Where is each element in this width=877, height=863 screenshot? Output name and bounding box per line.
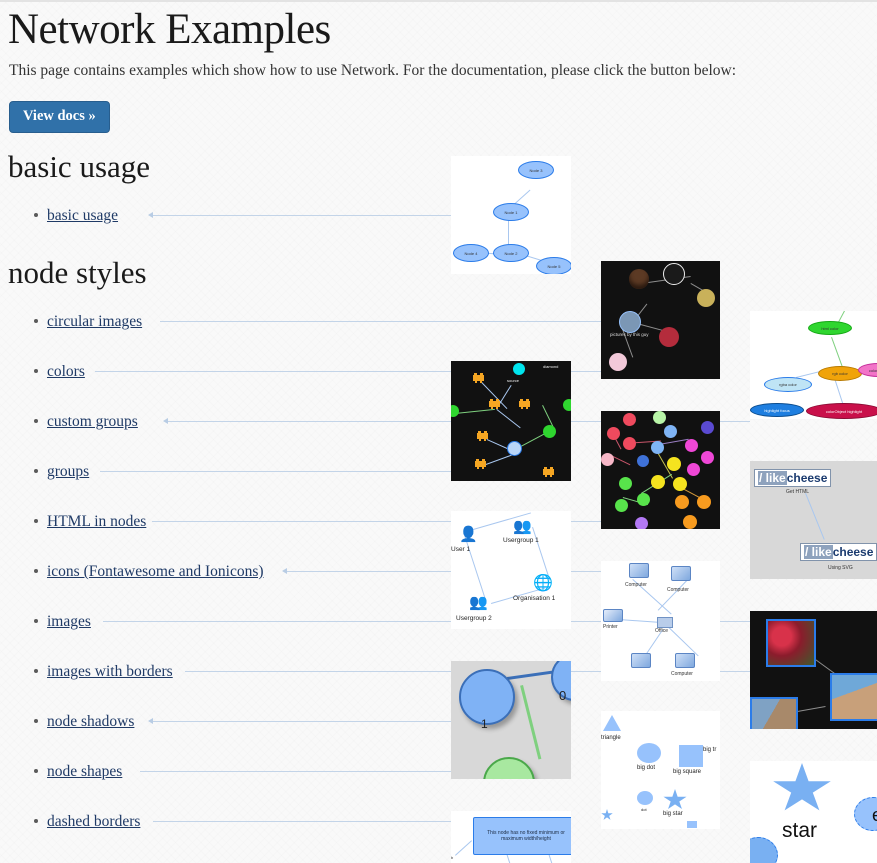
- connector-line: [153, 721, 451, 722]
- section-heading-basic-usage: basic usage: [8, 149, 150, 185]
- bullet-icon: [34, 319, 38, 323]
- node-label: big square: [673, 769, 701, 775]
- alien-icon: [477, 431, 488, 441]
- link-images[interactable]: images: [47, 613, 91, 630]
- star-shape: [601, 809, 613, 821]
- graph-node: Node 2: [493, 244, 529, 262]
- link-images-with-borders[interactable]: images with borders: [47, 663, 173, 680]
- list-item-custom-groups[interactable]: custom groups: [34, 412, 138, 432]
- thumbnail-images-with-borders[interactable]: [750, 611, 877, 729]
- graph-edge: [666, 625, 698, 656]
- graph-node: [687, 463, 700, 476]
- thumbnail-circular-images[interactable]: pictures by this guy: [601, 261, 720, 379]
- thumbnail-node-shadows[interactable]: 1 0: [451, 661, 571, 779]
- bullet-icon: [34, 619, 38, 623]
- graph-node: [675, 495, 689, 509]
- graph-node: colorObject highlight: [806, 403, 877, 419]
- thumbnail-custom-groups[interactable]: html color rgb color colorObject rgba co…: [750, 311, 877, 419]
- triangle-shape: [603, 715, 621, 731]
- list-item-basic-usage[interactable]: basic usage: [34, 206, 118, 226]
- graph-node: [651, 441, 664, 454]
- photo-node: [830, 673, 877, 721]
- image-node: [697, 289, 715, 307]
- graph-node: rgb color: [818, 366, 862, 381]
- image-node: [629, 269, 649, 289]
- bullet-icon: [34, 419, 38, 423]
- page-title: Network Examples: [8, 4, 331, 56]
- graph-edge: [658, 578, 689, 610]
- section-heading-node-styles: node styles: [8, 255, 147, 291]
- graph-node: [651, 475, 665, 489]
- node-label: triangle: [601, 735, 621, 741]
- node-label: Usergroup 2: [456, 615, 492, 622]
- connector-line: [100, 471, 451, 472]
- page-intro: This page contains examples which show h…: [9, 61, 736, 80]
- node-label: big dot: [637, 765, 655, 771]
- graph-node: Node 1: [493, 203, 529, 221]
- graph-node: [701, 451, 714, 464]
- image-node: [619, 311, 641, 333]
- bullet-icon: [34, 213, 38, 217]
- graph-edge: [805, 493, 825, 540]
- photo-node: [766, 619, 816, 667]
- graph-node: highlight focus: [750, 403, 804, 417]
- list-item-dashed-borders[interactable]: dashed borders: [34, 812, 140, 832]
- graph-edge: [455, 840, 472, 855]
- thumbnail-icons[interactable]: Computer Computer Printer Office Compute…: [601, 561, 720, 681]
- globe-icon: 🌐: [533, 573, 553, 592]
- graph-node: [637, 493, 650, 506]
- graph-node: Node 5: [536, 257, 571, 274]
- node-label: b: [451, 855, 453, 860]
- thumbnail-groups[interactable]: diamond source: [451, 361, 571, 481]
- graph-edge: [455, 409, 495, 414]
- node-label: Organisation 1: [513, 595, 555, 602]
- link-groups[interactable]: groups: [47, 463, 89, 480]
- ellipse-shape: [750, 837, 778, 863]
- graph-node: [607, 427, 620, 440]
- bullet-icon: [34, 769, 38, 773]
- star-shape: [772, 763, 832, 815]
- list-item-node-shadows[interactable]: node shadows: [34, 712, 134, 732]
- square-shape: [687, 821, 697, 828]
- node-label: big star: [663, 811, 683, 817]
- bullet-icon: [34, 569, 38, 573]
- big-dot-shape: [637, 743, 661, 763]
- graph-node: Node 4: [453, 244, 489, 262]
- graph-node: [701, 421, 714, 434]
- graph-node: [513, 363, 525, 375]
- graph-node: Node 3: [518, 161, 554, 179]
- thumbnail-colors[interactable]: [601, 411, 720, 529]
- graph-node: [619, 477, 632, 490]
- graph-node: html color: [808, 321, 852, 335]
- list-item-images[interactable]: images: [34, 612, 91, 632]
- node-label: source: [507, 378, 519, 383]
- graph-node: [623, 437, 636, 450]
- computer-icon: [671, 566, 691, 581]
- thumbnail-images[interactable]: / likecheese Get HTML / likecheese Using…: [750, 461, 877, 579]
- alien-icon: [519, 399, 530, 409]
- bullet-icon: [34, 369, 38, 373]
- image-node: [659, 327, 679, 347]
- photo-node: [750, 697, 798, 729]
- node-label: Usergroup 1: [503, 537, 539, 544]
- node-label: Get HTML: [786, 489, 809, 495]
- node-label: star: [782, 819, 817, 843]
- html-node: This node has no fixed minimum or maximu…: [473, 817, 571, 855]
- link-circular-images[interactable]: circular images: [47, 313, 142, 330]
- computer-icon: [631, 653, 651, 668]
- list-item-icons[interactable]: icons (Fontawesome and Ionicons): [34, 562, 264, 582]
- cheese-logo-svg: / likecheese: [800, 543, 877, 561]
- link-node-shapes[interactable]: node shapes: [47, 763, 122, 780]
- bullet-icon: [34, 719, 38, 723]
- node-label: 1: [481, 717, 488, 731]
- printer-icon: [603, 609, 623, 622]
- bullet-icon: [34, 469, 38, 473]
- image-node: [663, 263, 685, 285]
- computer-icon: [675, 653, 695, 668]
- node-label: pictures by this guy: [610, 332, 649, 337]
- graph-node: [637, 455, 649, 467]
- graph-node: [451, 405, 459, 417]
- list-item-html-in-nodes[interactable]: HTML in nodes: [34, 512, 146, 532]
- bullet-icon: [34, 669, 38, 673]
- thumbnail-dashed-borders[interactable]: star e: [750, 761, 877, 863]
- node-label: Computer: [671, 671, 693, 677]
- graph-node: [685, 439, 698, 452]
- node-label: dot: [641, 807, 647, 812]
- bullet-icon: [34, 519, 38, 523]
- node-label: User 1: [451, 546, 470, 553]
- graph-node: [543, 425, 556, 438]
- graph-node: [673, 477, 687, 491]
- graph-edge: [496, 409, 520, 428]
- user-icon: 👤: [459, 525, 478, 543]
- usergroup-icon: 👥: [469, 593, 488, 611]
- link-colors[interactable]: colors: [47, 363, 85, 380]
- graph-node: [697, 495, 711, 509]
- office-icon: [657, 617, 673, 628]
- node-label: Computer: [667, 587, 689, 593]
- list-item-node-shapes[interactable]: node shapes: [34, 762, 122, 782]
- node-label: big tr: [703, 747, 716, 753]
- node-label: 0: [559, 688, 566, 703]
- big-star-shape: [663, 789, 687, 811]
- computer-icon: [629, 563, 649, 578]
- graph-node: [664, 425, 677, 438]
- node-label: e: [872, 805, 877, 826]
- list-item-groups[interactable]: groups: [34, 462, 89, 482]
- node-label: Using SVG: [828, 565, 853, 571]
- bullet-icon: [34, 819, 38, 823]
- link-node-shadows[interactable]: node shadows: [47, 713, 134, 730]
- node-label: Printer: [603, 624, 618, 630]
- graph-node: [683, 515, 697, 529]
- dot-shape: [637, 791, 653, 805]
- link-custom-groups[interactable]: custom groups: [47, 413, 138, 430]
- thumbnail-basic-usage[interactable]: Node 3 Node 1 Node 4 Node 2 Node 5: [451, 156, 571, 274]
- list-item-circular-images[interactable]: circular images: [34, 312, 142, 332]
- node-label: diamond: [543, 364, 558, 369]
- thumbnail-node-shapes[interactable]: triangle big dot big square big tr dot b…: [601, 711, 720, 829]
- link-dashed-borders[interactable]: dashed borders: [47, 813, 140, 830]
- thumbnail-html-in-nodes[interactable]: 👤 👥 👥 🌐 User 1 Usergroup 1 Usergroup 2 O…: [451, 511, 571, 629]
- alien-icon: [543, 467, 554, 477]
- big-square-shape: [679, 745, 703, 767]
- connector-line: [153, 215, 451, 216]
- graph-node: rgba color: [764, 377, 812, 392]
- graph-node: [635, 517, 648, 529]
- link-icons[interactable]: icons (Fontawesome and Ionicons): [47, 563, 264, 580]
- list-item-images-with-borders[interactable]: images with borders: [34, 662, 173, 682]
- graph-node: [667, 457, 681, 471]
- alien-icon: [473, 373, 484, 383]
- link-html-in-nodes[interactable]: HTML in nodes: [47, 513, 146, 530]
- connector-line: [140, 771, 451, 772]
- node-label: Computer: [625, 582, 647, 588]
- view-docs-button[interactable]: View docs »: [9, 101, 110, 133]
- link-basic-usage[interactable]: basic usage: [47, 207, 118, 224]
- graph-node: [615, 499, 628, 512]
- top-divider: [0, 0, 877, 2]
- graph-node: [563, 399, 571, 411]
- list-item-colors[interactable]: colors: [34, 362, 85, 382]
- graph-node: [653, 411, 666, 424]
- graph-node: [507, 441, 522, 456]
- node-label: Office: [655, 628, 668, 634]
- graph-node: [623, 413, 636, 426]
- image-node: [609, 353, 627, 371]
- connector-line: [153, 821, 451, 822]
- cheese-logo-html: / likecheese: [754, 469, 831, 487]
- alien-icon: [489, 399, 500, 409]
- page-root: Network Examples This page contains exam…: [0, 0, 877, 863]
- usergroup-icon: 👥: [513, 517, 532, 535]
- connector-line: [160, 321, 601, 322]
- graph-node: [483, 757, 535, 779]
- graph-node: [601, 453, 614, 466]
- thumbnail-html-node-box[interactable]: This node has no fixed minimum or maximu…: [451, 811, 571, 863]
- graph-edge: [520, 685, 541, 759]
- alien-icon: [475, 459, 486, 469]
